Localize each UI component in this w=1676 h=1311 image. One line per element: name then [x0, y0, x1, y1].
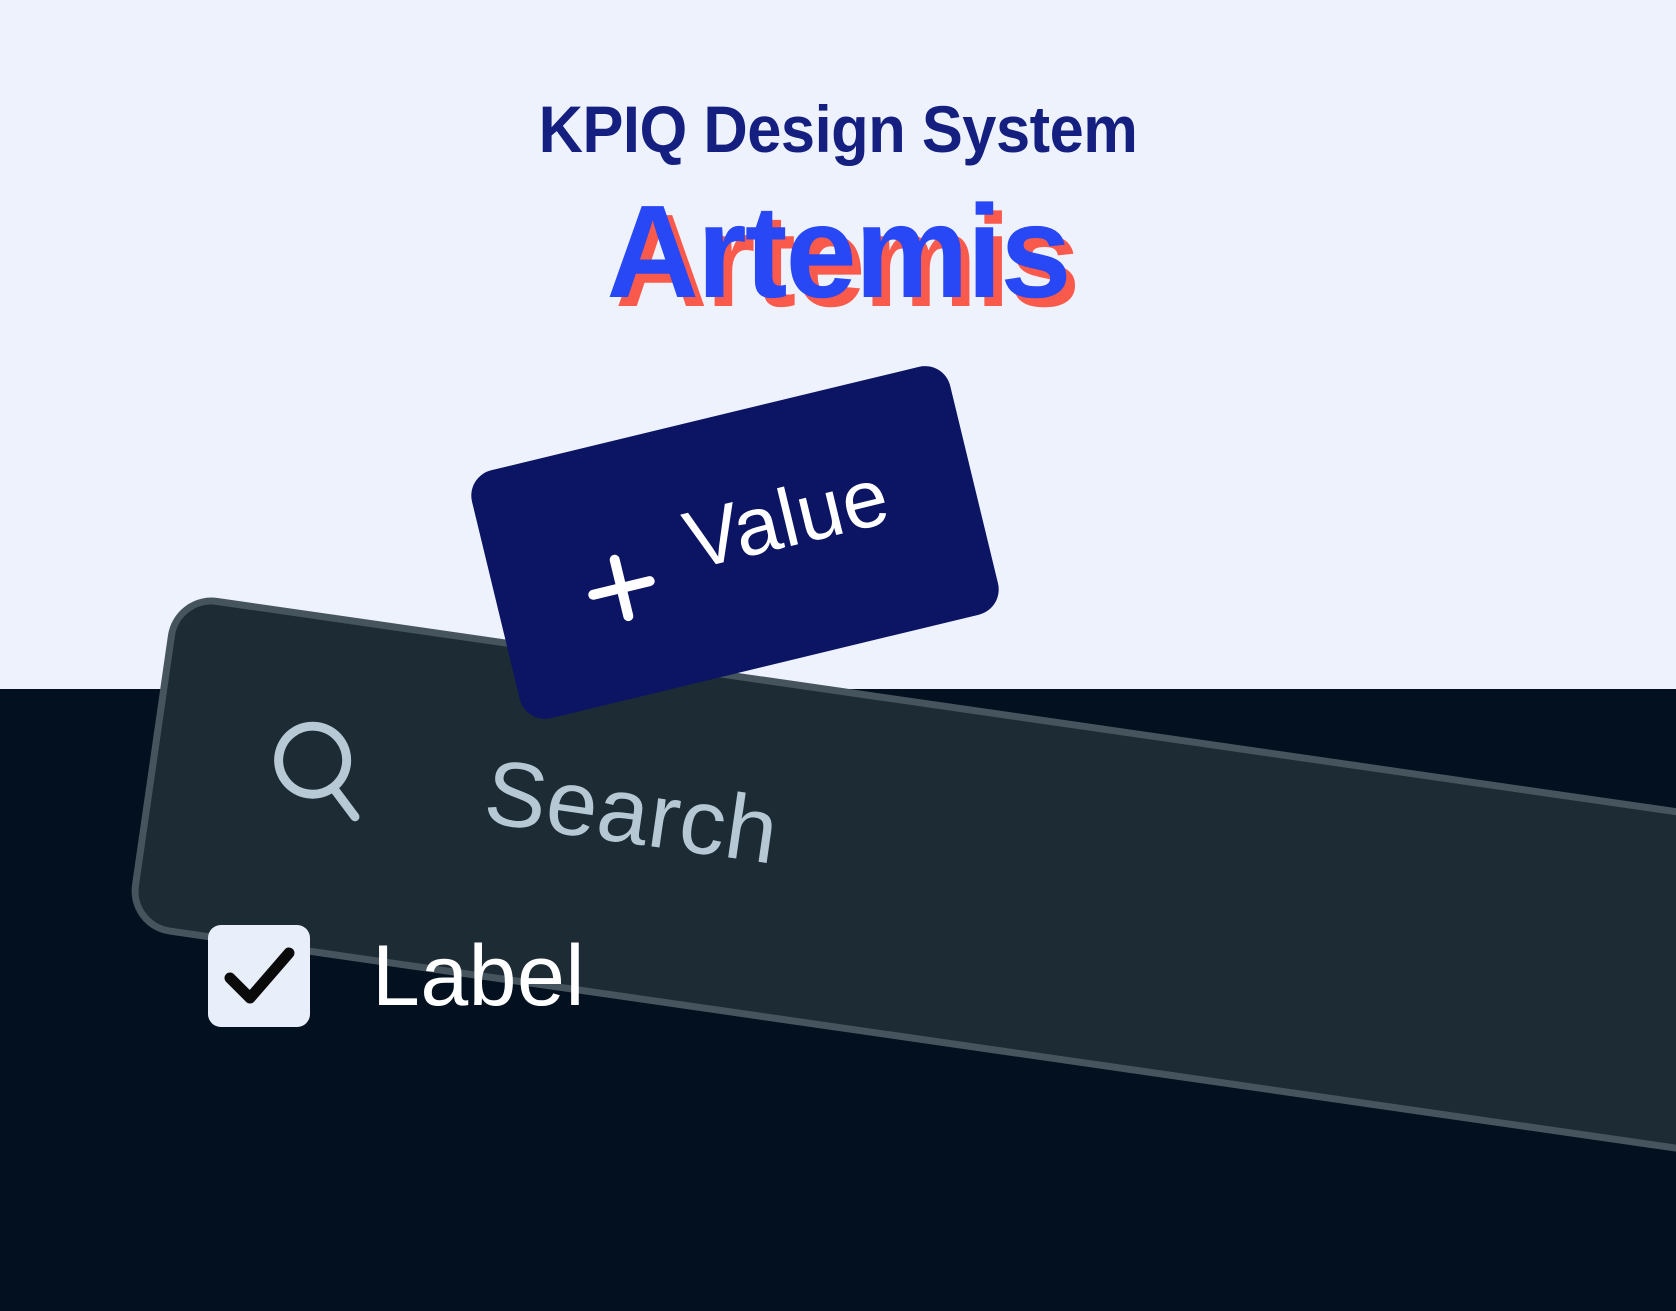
- checkbox-row[interactable]: Label: [208, 925, 585, 1027]
- page-title: Artemis: [25, 186, 1651, 318]
- search-input[interactable]: Search: [477, 732, 786, 893]
- checkbox-input[interactable]: [208, 925, 310, 1027]
- checkbox-label: Label: [372, 933, 585, 1019]
- header-block: KPIQ Design System Artemis: [0, 96, 1676, 318]
- search-icon: [261, 710, 379, 828]
- check-icon: [217, 934, 301, 1018]
- design-system-cover: KPIQ Design System Artemis Search Value: [0, 0, 1676, 1311]
- add-value-button-label: Value: [677, 455, 897, 583]
- plus-icon: [575, 542, 667, 634]
- page-kicker: KPIQ Design System: [59, 96, 1618, 162]
